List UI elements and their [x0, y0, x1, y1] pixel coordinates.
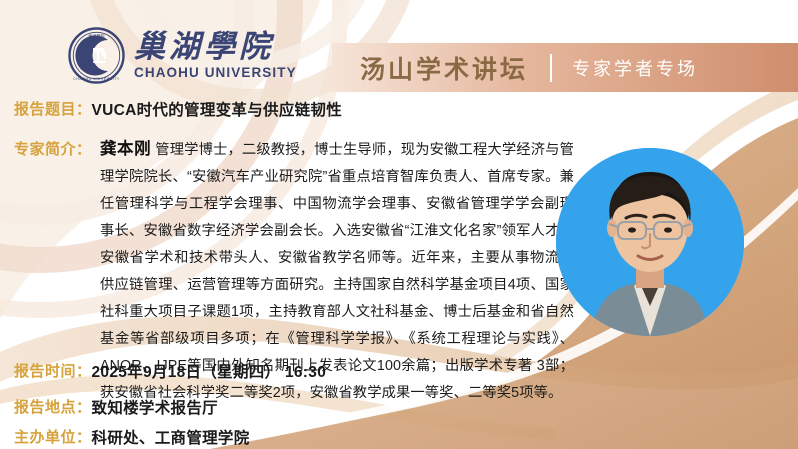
svg-text:巢湖學院: 巢湖學院: [88, 32, 106, 39]
svg-text:CHAOHU UNIVERSITY: CHAOHU UNIVERSITY: [73, 77, 120, 81]
report-host-label: 主办单位：: [14, 426, 92, 447]
report-time-label: 报告时间：: [14, 360, 92, 381]
report-title-row: 报告题目： VUCA时代的管理变革与供应链韧性: [14, 98, 342, 120]
series-banner: 汤山学术讲坛 专家学者专场: [332, 43, 798, 92]
seminar-poster: 巢湖學院 CHAOHU UNIVERSITY 巢湖學院 CHAOHU UNIVE…: [0, 0, 798, 449]
report-time-row: 报告时间： 2025年9月18日（星期四） 16:30: [14, 360, 326, 382]
banner-divider: [550, 54, 552, 82]
report-host-value: 科研处、工商管理学院: [92, 426, 250, 448]
speaker-name: 龚本刚: [100, 140, 151, 158]
poster-header: 巢湖學院 CHAOHU UNIVERSITY 巢湖學院 CHAOHU UNIVE…: [0, 0, 798, 96]
speaker-portrait-photo: [556, 148, 744, 336]
speaker-bio-label: 专家简介：: [14, 136, 92, 163]
university-seal-icon: 巢湖學院 CHAOHU UNIVERSITY: [68, 27, 125, 84]
university-name-en: CHAOHU UNIVERSITY: [134, 65, 297, 80]
banner-main-title: 汤山学术讲坛: [360, 50, 528, 86]
report-title-label: 报告题目：: [14, 98, 92, 119]
banner-subtitle: 专家学者专场: [572, 55, 698, 81]
university-name-cn: 巢湖學院: [134, 31, 297, 64]
speaker-portrait: [556, 148, 744, 336]
report-title-value: VUCA时代的管理变革与供应链韧性: [92, 98, 343, 120]
report-host-row: 主办单位： 科研处、工商管理学院: [14, 426, 250, 448]
university-logo: 巢湖學院 CHAOHU UNIVERSITY 巢湖學院 CHAOHU UNIVE…: [68, 27, 297, 84]
report-place-label: 报告地点：: [14, 396, 92, 417]
report-place-value: 致知楼学术报告厅: [92, 396, 218, 418]
report-place-row: 报告地点： 致知楼学术报告厅: [14, 396, 218, 418]
report-time-value: 2025年9月18日（星期四） 16:30: [92, 360, 327, 382]
